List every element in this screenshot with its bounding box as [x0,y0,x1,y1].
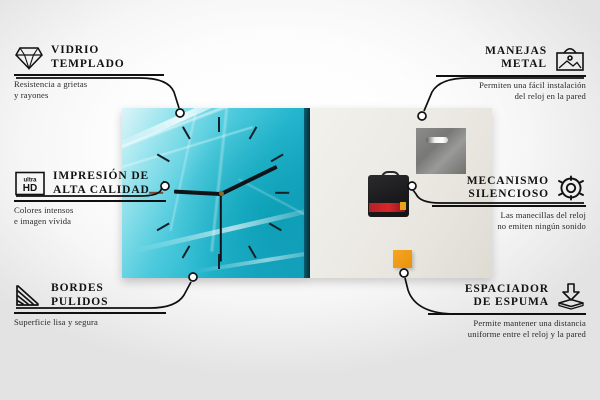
connector-dot-bordes [189,273,197,281]
feature-header: MECANISMO SILENCIOSO [432,174,586,202]
feature-vidrio-templado: VIDRIO TEMPLADO Resistencia a grietas y … [14,44,164,101]
feature-header: BORDES PULIDOS [14,282,166,309]
feature-header: MANEJAS METAL [436,44,586,72]
feature-bordes-pulidos: BORDES PULIDOS Superficie lisa y segura [14,282,166,328]
feature-rule [436,75,586,77]
gear-icon [556,174,586,202]
feature-title: MANEJAS METAL [485,45,547,72]
feature-subtitle: Resistencia a grietas y rayones [14,79,164,101]
feature-title: VIDRIO TEMPLADO [51,44,125,71]
feature-rule [14,200,166,202]
feature-header: ultra HD IMPRESIÓN DE ALTA CALIDAD [14,170,166,197]
feature-subtitle: Superficie lisa y segura [14,317,166,328]
feature-rule [14,312,166,314]
foam-spacer-icon [556,282,586,310]
feature-header: VIDRIO TEMPLADO [14,44,164,71]
feature-subtitle: Permite mantener una distancia uniforme … [428,318,586,340]
svg-text:HD: HD [23,183,37,194]
infographic-canvas: VIDRIO TEMPLADO Resistencia a grietas y … [0,0,600,400]
feature-header: ESPACIADOR DE ESPUMA [428,282,586,310]
polished-edges-icon [14,283,44,309]
diamond-icon [14,45,44,71]
feature-title: IMPRESIÓN DE ALTA CALIDAD [53,170,150,197]
feature-rule [432,205,586,207]
feature-manejas-metal: MANEJAS METAL Permiten una fácil instala… [436,44,586,102]
feature-title: BORDES PULIDOS [51,282,108,309]
feature-subtitle: Las manecillas del reloj no emiten ningú… [432,210,586,232]
feature-subtitle: Colores intensos e imagen vívida [14,205,166,227]
feature-espaciador-espuma: ESPACIADOR DE ESPUMA Permite mantener un… [428,282,586,340]
ultra-hd-icon: ultra HD [14,170,46,197]
feature-title: ESPACIADOR DE ESPUMA [465,283,549,310]
connector-dot-mecanismo [408,182,416,190]
wall-hanger-icon [554,44,586,72]
connector-dot-manejas [418,112,426,120]
feature-impresion-alta-calidad: ultra HD IMPRESIÓN DE ALTA CALIDAD Color… [14,170,166,227]
feature-rule [14,74,164,76]
connector-dot-vidrio [176,109,184,117]
feature-rule [428,313,586,315]
feature-title: MECANISMO SILENCIOSO [467,175,549,202]
feature-mecanismo-silencioso: MECANISMO SILENCIOSO Las manecillas del … [432,174,586,232]
connector-dot-espaciador [400,269,408,277]
feature-subtitle: Permiten una fácil instalación del reloj… [436,80,586,102]
